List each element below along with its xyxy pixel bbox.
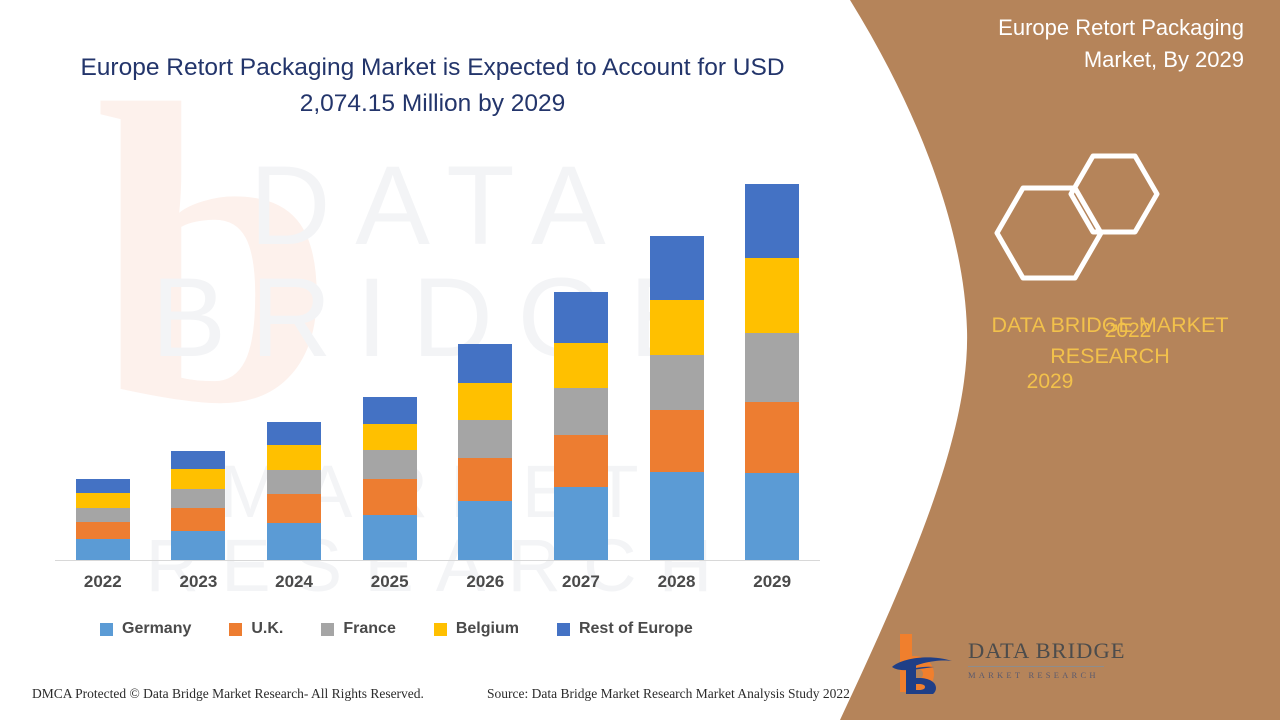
bar-group xyxy=(554,292,608,560)
infographic-canvas: b DATA BRIDGE MARKET RESEARCH Europe Ret… xyxy=(0,0,1280,720)
bar-segment xyxy=(650,355,704,410)
bar-segment xyxy=(458,501,512,560)
legend-item[interactable]: Belgium xyxy=(434,620,519,638)
hexagon-2029-shape xyxy=(997,188,1101,278)
x-axis-label: 2024 xyxy=(249,572,339,592)
bar-segment xyxy=(363,450,417,479)
brand-name: DATA BRIDGE MARKET RESEARCH xyxy=(965,310,1255,372)
legend-swatch xyxy=(229,623,242,636)
x-axis-label: 2023 xyxy=(153,572,243,592)
bar-segment xyxy=(76,539,130,560)
bar-segment xyxy=(267,523,321,560)
bar-group xyxy=(650,236,704,560)
bar-segment xyxy=(76,508,130,522)
bar-segment xyxy=(745,402,799,473)
bar-segment xyxy=(554,435,608,487)
footer-source: Source: Data Bridge Market Research Mark… xyxy=(487,686,850,702)
bar-segment xyxy=(363,479,417,515)
x-axis-label: 2026 xyxy=(440,572,530,592)
bar-segment xyxy=(650,300,704,355)
bar-segment xyxy=(171,469,225,489)
x-axis-label: 2025 xyxy=(345,572,435,592)
legend-swatch xyxy=(321,623,334,636)
bar-segment xyxy=(363,515,417,560)
bar-segment xyxy=(267,445,321,470)
bar-group xyxy=(76,479,130,560)
chart-axis-line xyxy=(55,560,820,561)
bar-segment xyxy=(650,410,704,472)
legend-label: Belgium xyxy=(456,620,519,638)
hexagon-graphic: 2029 2022 xyxy=(985,152,1185,292)
stacked-bar-chart: 20222023202420252026202720282029 xyxy=(0,0,860,600)
bar-group xyxy=(458,344,512,560)
legend-item[interactable]: U.K. xyxy=(229,620,283,638)
bar-segment xyxy=(458,383,512,420)
bar-segment xyxy=(554,343,608,388)
legend-label: Germany xyxy=(122,620,191,638)
bar-segment xyxy=(745,184,799,258)
chart-plot-area xyxy=(55,160,820,560)
x-axis-label: 2029 xyxy=(727,572,817,592)
bar-segment xyxy=(745,473,799,560)
legend-swatch xyxy=(557,623,570,636)
hexagon-label-2029: 2029 xyxy=(990,370,1110,394)
legend-label: Rest of Europe xyxy=(579,620,693,638)
logo-sub-text: MARKET RESEARCH xyxy=(968,670,1108,680)
footer: DMCA Protected © Data Bridge Market Rese… xyxy=(0,686,880,706)
legend-swatch xyxy=(100,623,113,636)
bar-group xyxy=(745,184,799,560)
legend-item[interactable]: Germany xyxy=(100,620,191,638)
legend-item[interactable]: France xyxy=(321,620,395,638)
x-axis-label: 2022 xyxy=(58,572,148,592)
legend-swatch xyxy=(434,623,447,636)
bar-segment xyxy=(458,344,512,383)
hexagon-2022-shape xyxy=(1071,156,1157,232)
chart-legend: GermanyU.K.FranceBelgiumRest of Europe xyxy=(100,617,731,641)
bar-group xyxy=(363,397,417,560)
panel-title: Europe Retort Packaging Market, By 2029 xyxy=(944,12,1244,76)
bar-segment xyxy=(76,522,130,539)
bar-segment xyxy=(745,258,799,333)
bar-segment xyxy=(267,422,321,445)
bar-group xyxy=(171,451,225,560)
bar-segment xyxy=(171,451,225,469)
footer-copyright: DMCA Protected © Data Bridge Market Rese… xyxy=(32,686,424,702)
bar-segment xyxy=(554,388,608,435)
x-axis-label: 2028 xyxy=(632,572,722,592)
data-bridge-logo-mark xyxy=(890,632,964,694)
bar-segment xyxy=(650,236,704,300)
logo-divider xyxy=(968,666,1104,667)
data-bridge-logo-wordmark: DATA BRIDGE MARKET RESEARCH xyxy=(968,638,1108,680)
bar-segment xyxy=(650,472,704,560)
bar-segment xyxy=(171,531,225,560)
chart-x-axis-labels: 20222023202420252026202720282029 xyxy=(55,572,820,598)
x-axis-label: 2027 xyxy=(536,572,626,592)
bar-segment xyxy=(745,333,799,402)
legend-label: France xyxy=(343,620,395,638)
data-bridge-logo: DATA BRIDGE MARKET RESEARCH xyxy=(890,632,1105,694)
bar-segment xyxy=(76,493,130,508)
bar-segment xyxy=(267,470,321,494)
bar-segment xyxy=(267,494,321,523)
bar-segment xyxy=(363,424,417,450)
legend-item[interactable]: Rest of Europe xyxy=(557,620,693,638)
bar-segment xyxy=(363,397,417,424)
bar-segment xyxy=(76,479,130,493)
bar-group xyxy=(267,422,321,560)
bar-segment xyxy=(171,489,225,508)
bar-segment xyxy=(554,487,608,560)
logo-main-text: DATA BRIDGE xyxy=(968,638,1108,664)
bar-segment xyxy=(554,292,608,343)
legend-label: U.K. xyxy=(251,620,283,638)
bar-segment xyxy=(458,458,512,501)
bar-segment xyxy=(458,420,512,458)
bar-segment xyxy=(171,508,225,531)
